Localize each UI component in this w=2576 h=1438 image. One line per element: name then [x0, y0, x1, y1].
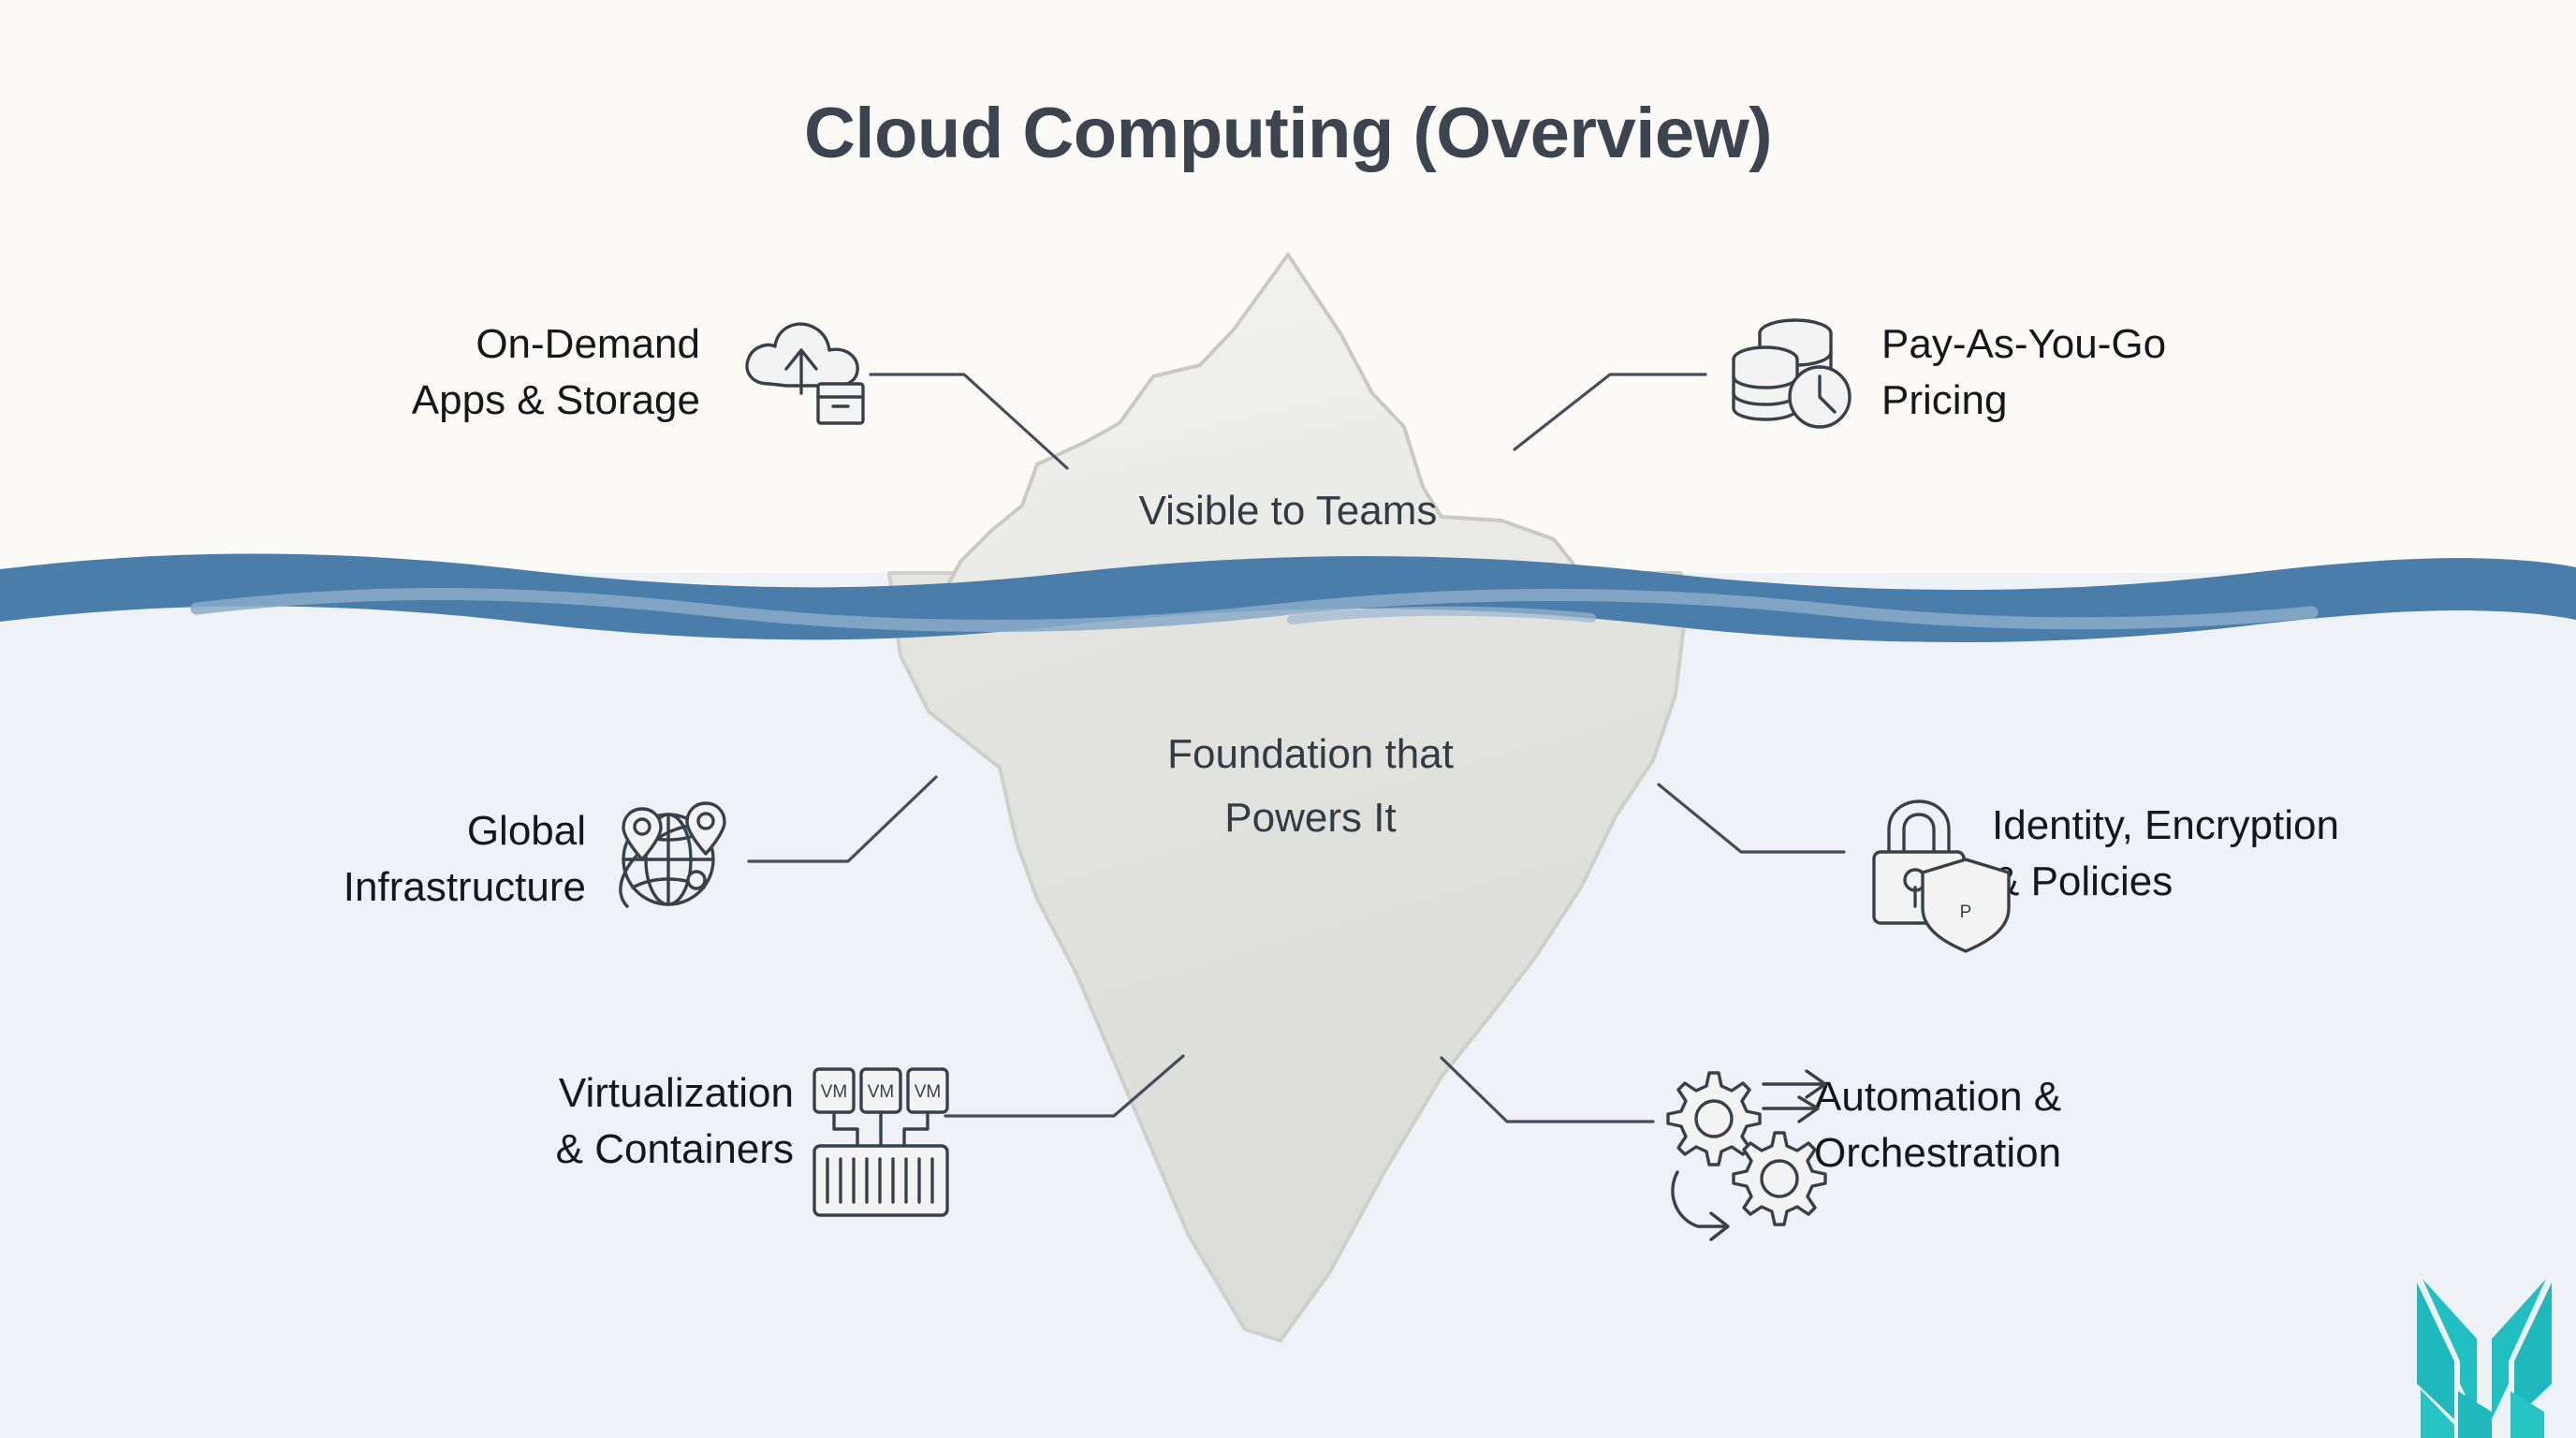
vm-box-label-1: VM — [821, 1082, 848, 1102]
iceberg-below-label-line1: Foundation that — [1167, 731, 1454, 777]
callout-label-line1: On-Demand — [476, 321, 700, 367]
callout-label-line2: Apps & Storage — [412, 377, 700, 423]
callout-label-line2: Pricing — [1881, 377, 2008, 423]
policy-shield-letter: P — [1960, 902, 1972, 922]
iceberg-below-label-line2: Powers It — [1224, 795, 1396, 841]
callout-label-line1: Automation & — [1814, 1074, 2061, 1120]
vm-box-label-3: VM — [915, 1082, 942, 1102]
callout-label-line1: Virtualization — [559, 1070, 794, 1116]
callout-label-line1: Pay-As-You-Go — [1881, 321, 2166, 367]
iceberg-diagram: Cloud Computing (Overview) Visible to Te… — [0, 0, 2576, 1438]
callout-label-line2: Orchestration — [1814, 1130, 2061, 1176]
infographic-canvas: Cloud Computing (Overview) Visible to Te… — [0, 0, 2576, 1438]
callout-label-line2: & Policies — [1992, 858, 2173, 904]
callout-label-line2: & Containers — [556, 1126, 794, 1172]
callout-label-line2: Infrastructure — [344, 864, 586, 910]
page-title: Cloud Computing (Overview) — [804, 94, 1772, 173]
vm-box-label-2: VM — [868, 1082, 895, 1102]
callout-label-line1: Identity, Encryption — [1992, 802, 2339, 848]
iceberg-above-label: Visible to Teams — [1139, 488, 1438, 534]
callout-label-line1: Global — [467, 808, 586, 854]
